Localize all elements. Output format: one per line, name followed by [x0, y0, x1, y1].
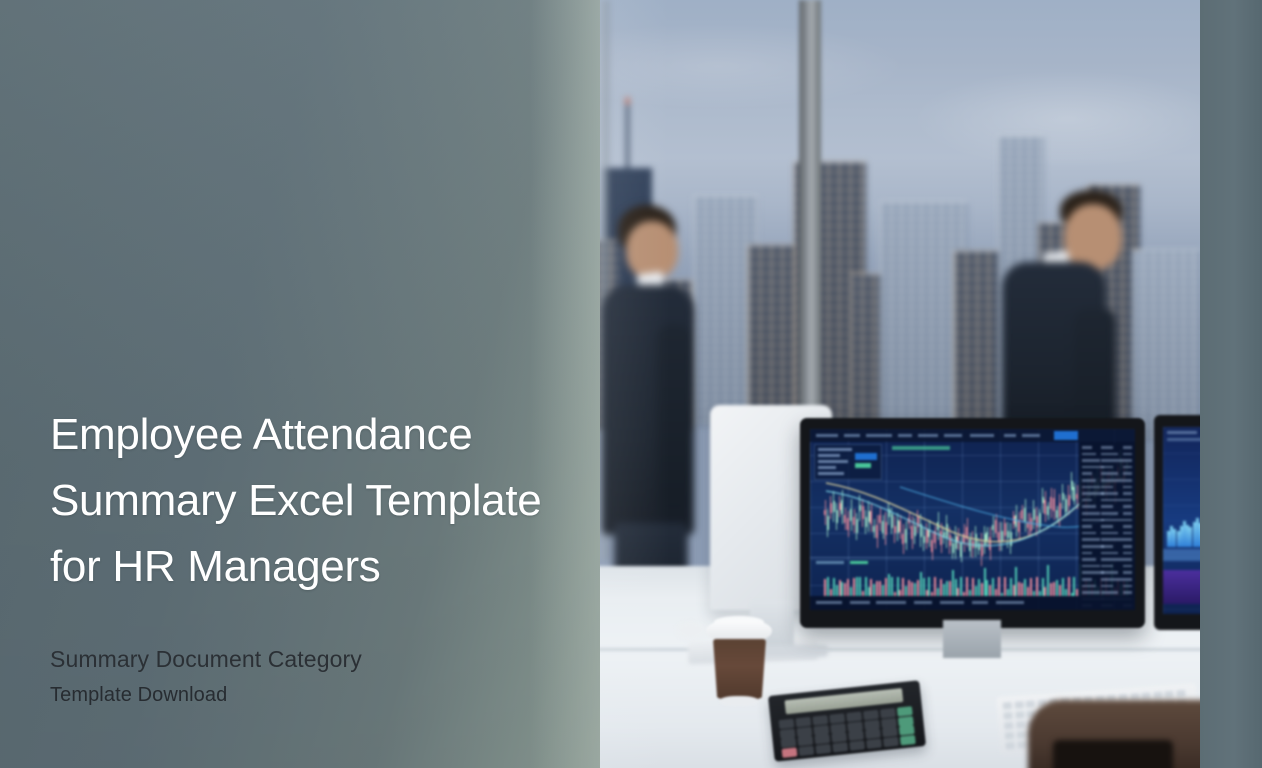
computer-mouse	[676, 622, 706, 639]
second-monitor	[1154, 415, 1200, 630]
platform-toolbar	[810, 429, 1135, 442]
second-screen	[1163, 427, 1200, 614]
active-tab-highlight	[1054, 431, 1078, 440]
calculator-keypad	[779, 706, 918, 756]
trading-monitor	[800, 418, 1145, 628]
cup-base	[719, 696, 759, 706]
page-title: Employee Attendance Summary Excel Templa…	[50, 402, 570, 600]
monitor-stand	[943, 620, 1001, 658]
window-mullion-icon	[799, 0, 821, 470]
antenna-spire-icon	[626, 104, 629, 170]
suit-arm	[656, 325, 692, 510]
businessman-right	[998, 190, 1138, 440]
coffee-cup	[710, 620, 768, 710]
presentation-slide: Employee Attendance Summary Excel Templa…	[0, 0, 1262, 768]
title-text-block: Employee Attendance Summary Excel Templa…	[50, 402, 570, 711]
office-chair-shadow	[1053, 740, 1173, 768]
screen2-header	[1167, 431, 1197, 434]
title-line-1: Employee Attendance	[50, 410, 472, 459]
cup-sleeve	[713, 639, 766, 699]
chart-band	[1163, 549, 1200, 561]
businessman-left	[600, 205, 720, 615]
head	[626, 221, 678, 279]
building-block	[1132, 250, 1200, 440]
building-block	[748, 245, 800, 430]
cup-lid	[706, 620, 772, 642]
status-bar	[810, 596, 1135, 610]
screen2-subheader	[1167, 438, 1200, 441]
head	[1064, 204, 1122, 270]
title-line-2: Summary Excel Template	[50, 476, 541, 525]
area-chart-series	[1163, 475, 1200, 547]
title-line-3: for HR Managers	[50, 542, 381, 591]
hero-photograph	[598, 0, 1200, 768]
right-edge-strip	[1200, 0, 1262, 768]
market-depth-panel	[1079, 442, 1135, 596]
trading-screen	[810, 429, 1135, 610]
subtitle-category: Summary Document Category	[50, 642, 570, 677]
subtitle-template-download: Template Download	[50, 679, 570, 711]
secondary-series-purple	[1163, 570, 1200, 604]
